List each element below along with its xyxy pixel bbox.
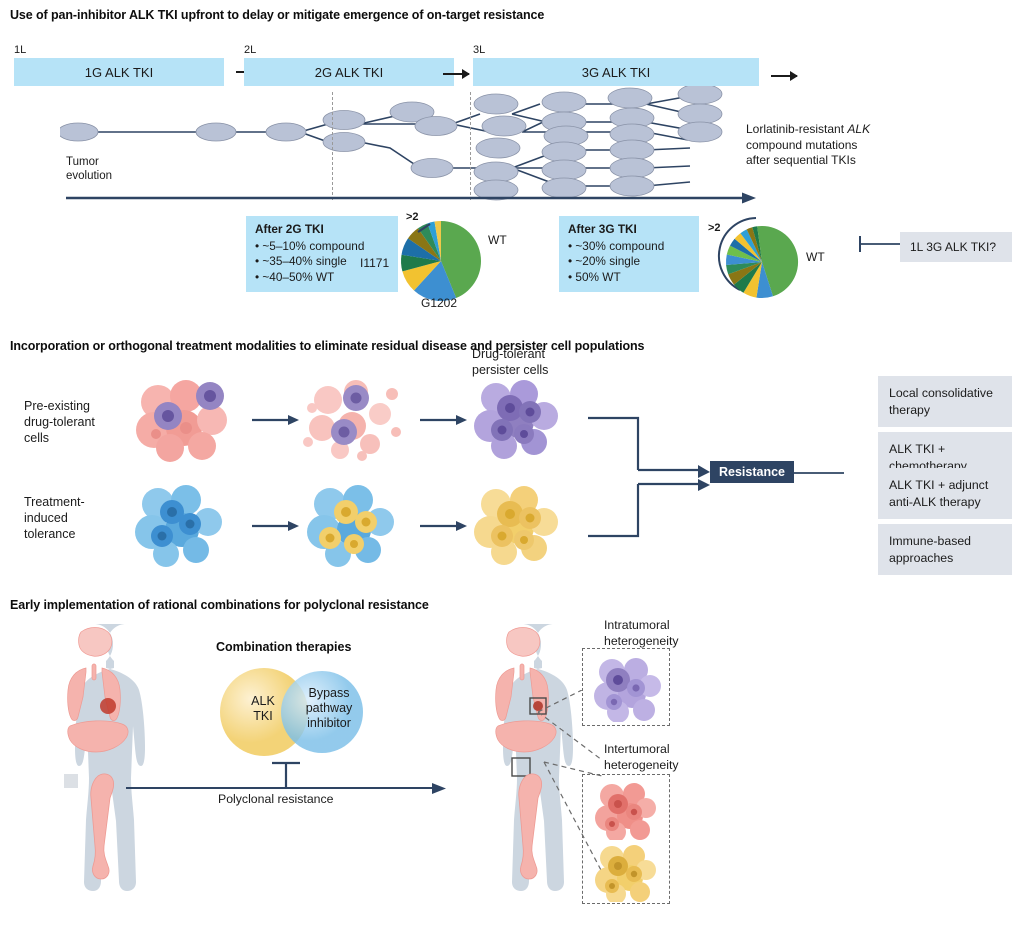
therapy-0-l2: therapy [889, 402, 1001, 419]
timeline-axis [66, 192, 766, 210]
tumor-evolution-label-line2: evolution [66, 169, 112, 183]
polyclonal-resistance-label: Polyclonal resistance [218, 792, 334, 806]
fact-box-3g-heading: After 3G TKI [568, 222, 690, 238]
question-box-label: 1L 3G ALK TKI? [910, 240, 996, 254]
therapy-3-l2: approaches [889, 550, 1001, 567]
arrow-2g-to-3g [443, 73, 469, 75]
therapy-box-alk-adjunct[interactable]: ALK TKI + adjunct anti-ALK therapy [878, 468, 1012, 519]
fact-box-2g-heading: After 2G TKI [255, 222, 389, 238]
cell-cluster-pre-existing-treated [300, 372, 420, 464]
sidenote-line2: compound mutations [746, 138, 986, 154]
cell-cluster-treatment-induced-treated [300, 478, 416, 570]
lorlatinib-sidenote: Lorlatinib-resistant ALK compound mutati… [746, 122, 986, 169]
cell-cluster-intertumoral-pink [588, 778, 666, 840]
venn-bypass-l1: Bypass [294, 686, 364, 701]
line-tag-2l: 2L [244, 44, 256, 56]
question-box-1l-3g[interactable]: 1L 3G ALK TKI? [900, 232, 1012, 262]
arrow-row1-step2 [420, 414, 468, 426]
intertumoral-l1: Intertumoral [604, 742, 679, 758]
intratumoral-heterogeneity-title: Intratumoral heterogeneity [604, 618, 679, 649]
intertumoral-heterogeneity-title: Intertumoral heterogeneity [604, 742, 679, 773]
tumor-evolution-network [60, 86, 760, 204]
pie-1-g1202-label: G1202 [421, 296, 457, 310]
section-2-title: Incorporation or orthogonal treatment mo… [10, 339, 644, 353]
cell-cluster-persister-yellow [466, 478, 576, 570]
fact-box-3g-b3: • 50% WT [568, 270, 621, 284]
pie-2-wt-label: WT [806, 250, 825, 264]
resistance-box: Resistance [710, 461, 794, 483]
fact-box-2g: After 2G TKI • ~5–10% compound • ~35–40%… [246, 216, 398, 292]
row-label-treatment-l3: tolerance [24, 526, 85, 542]
tki-bar-1g[interactable]: 1G ALK TKI [14, 58, 224, 86]
persister-caption-l1: Drug-tolerant [472, 346, 548, 362]
lung-lesion-icon [100, 698, 116, 714]
combination-therapies-title: Combination therapies [216, 640, 351, 654]
sidenote-gene-italic: ALK [847, 122, 870, 136]
tki-bar-3g[interactable]: 3G ALK TKI [473, 58, 759, 86]
venn-alk-l2: TKI [234, 709, 292, 724]
fact-box-3g: After 3G TKI • ~30% compound • ~20% sing… [559, 216, 699, 292]
tumor-evolution-label-line1: Tumor [66, 155, 112, 169]
divider-2l [332, 92, 333, 200]
cell-cluster-treatment-induced [128, 478, 244, 570]
arrow-3g-forward [771, 75, 797, 77]
row-label-treatment-l2: induced [24, 510, 85, 526]
pie-1-wt-label: WT [488, 233, 507, 247]
therapy-0-l1: Local consolidative [889, 385, 1001, 402]
section-1-title: Use of pan-inhibitor ALK TKI upfront to … [10, 8, 544, 22]
intratumoral-l2: heterogeneity [604, 634, 679, 650]
cell-cluster-intratumoral [588, 652, 666, 722]
venn-bypass-l2: pathway [294, 701, 364, 716]
pie-chart-after-3g [700, 212, 800, 304]
intertumoral-l2: heterogeneity [604, 758, 679, 774]
therapy-2-l2: anti-ALK therapy [889, 494, 1001, 511]
row-label-pre-existing-l1: Pre-existing [24, 398, 95, 414]
resistance-box-label: Resistance [719, 465, 785, 479]
therapy-box-immune-based[interactable]: Immune-based approaches [878, 524, 1012, 575]
sidenote-line1: Lorlatinib-resistant ALK [746, 122, 986, 138]
row-label-pre-existing-l2: drug-tolerant [24, 414, 95, 430]
pie-1-i1171-label: I1171 [360, 256, 389, 270]
cell-cluster-intertumoral-yellow [588, 840, 666, 902]
row-label-treatment-l1: Treatment- [24, 494, 85, 510]
fact-box-2g-b2: • ~35–40% single [255, 254, 347, 268]
row-label-pre-existing-l3: cells [24, 430, 95, 446]
venn-label-bypass: Bypass pathway inhibitor [294, 686, 364, 731]
resistance-bracket [586, 408, 716, 548]
cell-cluster-pre-existing [128, 372, 248, 464]
arrow-row1-step1 [252, 414, 300, 426]
cell-cluster-persister-purple [466, 372, 576, 464]
fact-box-3g-b1: • ~30% compound [568, 239, 664, 253]
tki-bar-2g[interactable]: 2G ALK TKI [244, 58, 454, 86]
row-label-treatment-induced: Treatment- induced tolerance [24, 494, 85, 542]
line-tag-1l: 1L [14, 44, 26, 56]
therapy-2-l1: ALK TKI + adjunct [889, 477, 1001, 494]
sidenote-prefix: Lorlatinib-resistant [746, 122, 847, 136]
venn-alk-l1: ALK [234, 694, 292, 709]
polyclonal-resistance-arrow [126, 760, 456, 794]
fact-box-2g-b1: • ~5–10% compound [255, 239, 364, 253]
arrow-row2-step1 [252, 520, 300, 532]
therapy-3-l1: Immune-based [889, 533, 1001, 550]
tumor-evolution-label: Tumor evolution [66, 155, 112, 183]
section-3-title: Early implementation of rational combina… [10, 598, 429, 612]
fact-box-3g-b2: • ~20% single [568, 254, 640, 268]
row-label-pre-existing: Pre-existing drug-tolerant cells [24, 398, 95, 446]
divider-3l [470, 92, 471, 200]
line-tag-3l: 3L [473, 44, 485, 56]
venn-bypass-l3: inhibitor [294, 716, 364, 731]
tki-bar-2g-label: 2G ALK TKI [315, 65, 383, 80]
fact-box-2g-b3: • ~40–50% WT [255, 270, 334, 284]
arrow-row2-step2 [420, 520, 468, 532]
resistance-inhibitor-connector [784, 462, 844, 486]
tki-bar-3g-label: 3G ALK TKI [582, 65, 650, 80]
pie-chart-after-2g [398, 218, 484, 304]
intratumoral-l1: Intratumoral [604, 618, 679, 634]
tki-bar-1g-label: 1G ALK TKI [85, 65, 153, 80]
inhibitor-connector [858, 232, 902, 258]
sidenote-line3: after sequential TKIs [746, 153, 986, 169]
therapy-box-local-consolidative[interactable]: Local consolidative therapy [878, 376, 1012, 427]
venn-label-alk-tki: ALK TKI [234, 694, 292, 724]
